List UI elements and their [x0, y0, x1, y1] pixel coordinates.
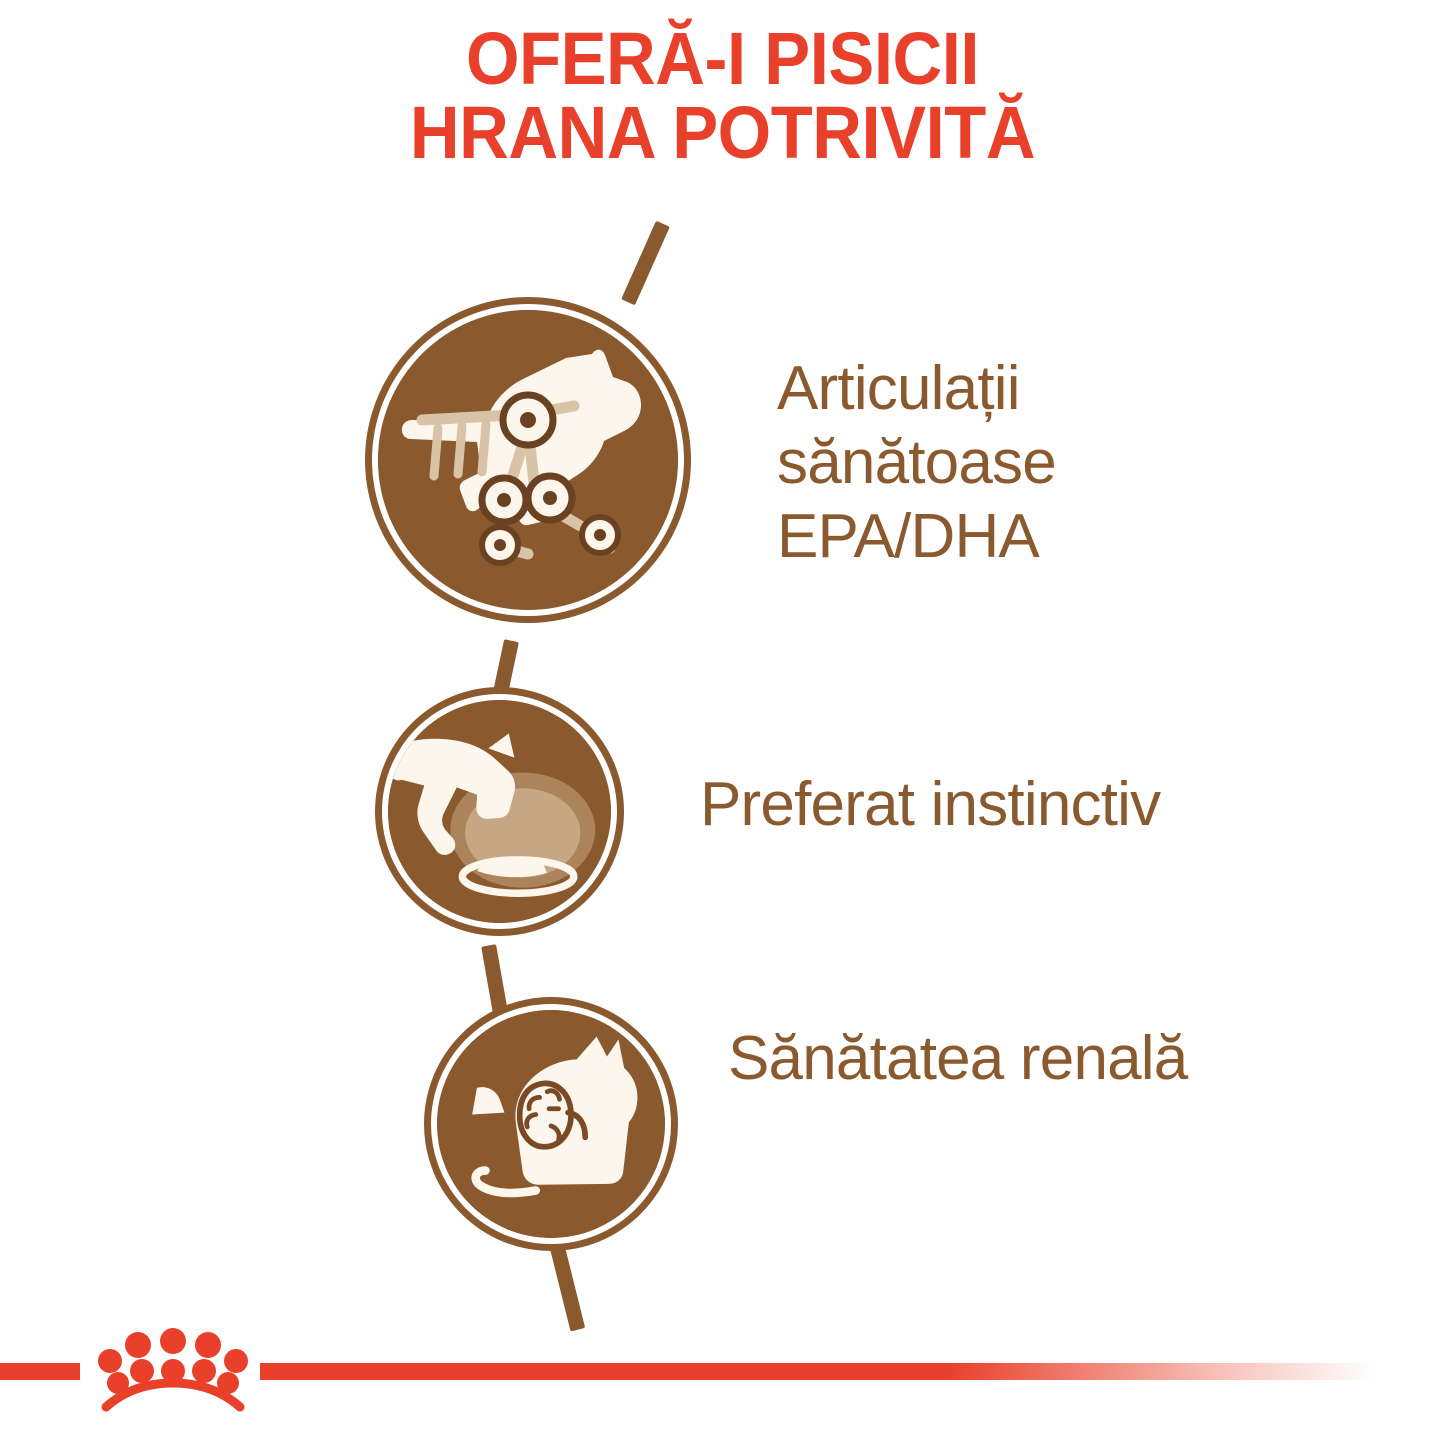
footer-rule-right [260, 1363, 1445, 1380]
cat-kidney-icon [437, 1010, 665, 1238]
infographic-poster: OFERĂ-I PISICII HRANA POTRIVITĂ [0, 0, 1445, 1445]
page-title: OFERĂ-I PISICII HRANA POTRIVITĂ [51, 22, 1395, 170]
feature-label-kidney: Sănătatea renală [728, 1022, 1248, 1096]
connector-dash-top [621, 221, 670, 306]
feature-icon-joints [378, 310, 678, 610]
feature-label-joints: Articulații sănătoase EPA/DHA [777, 352, 1277, 574]
feature-icon-kidney [437, 1010, 665, 1238]
footer-rule-left [0, 1363, 80, 1380]
brand-footer [0, 1315, 1445, 1445]
page-title-line-2: HRANA POTRIVITĂ [51, 96, 1395, 170]
connector-dash-2-3 [481, 944, 508, 1014]
cat-eating-bowl-icon [388, 700, 611, 923]
connector-dash-1-2 [490, 639, 519, 709]
feature-label-instinct: Preferat instinctiv [700, 768, 1360, 842]
feature-icon-instinct [388, 700, 611, 923]
cat-skeleton-joints-icon [378, 310, 678, 610]
page-title-line-1: OFERĂ-I PISICII [51, 22, 1395, 96]
royal-canin-crown-logo [88, 1327, 258, 1419]
